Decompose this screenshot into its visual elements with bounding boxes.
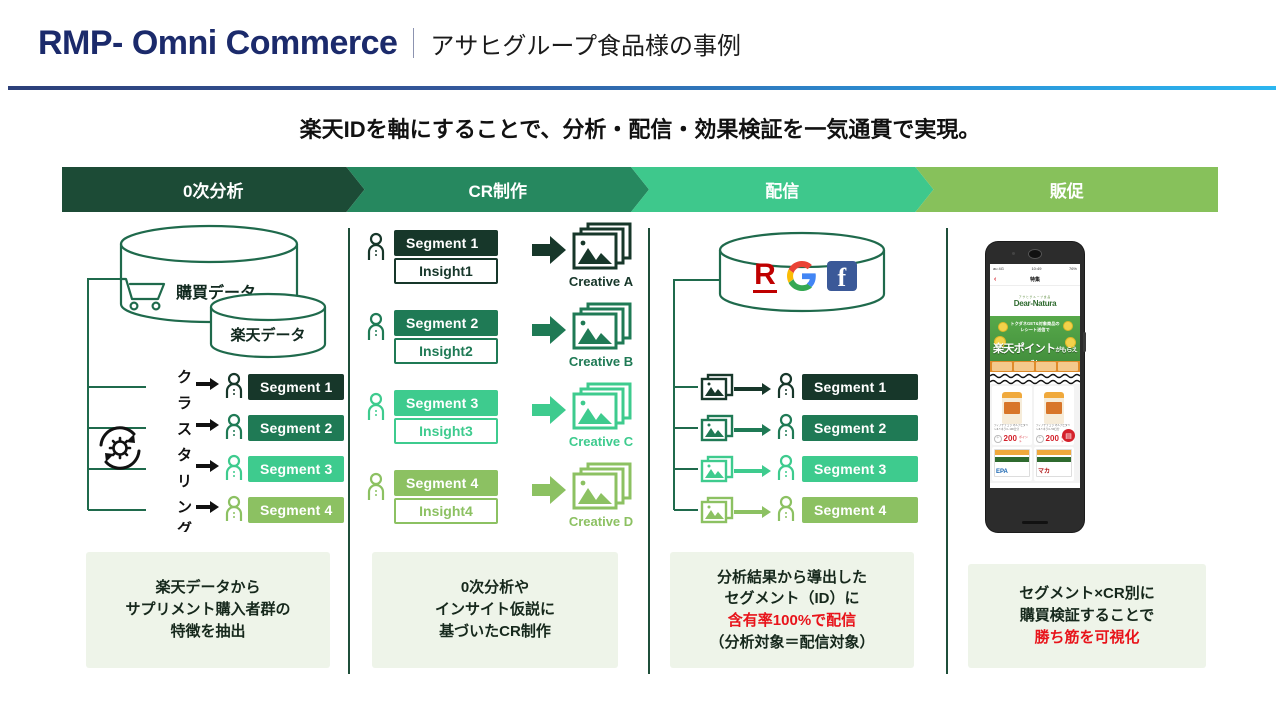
creative-image-icon-2	[574, 384, 630, 428]
creative-image-icon-3	[574, 464, 630, 508]
note-box-0: 楽天データから サプリメント購入者群の 特徴を抽出	[86, 552, 330, 668]
product-image	[994, 388, 1030, 424]
note-line: 楽天データから	[125, 577, 290, 599]
product-image: マカ	[1036, 449, 1072, 477]
svg-text:ン: ン	[177, 499, 192, 516]
note-line: セグメント（ID）に	[709, 588, 874, 610]
creative-image-icon-0	[574, 224, 630, 268]
step-chevron-2[interactable]: 配信	[631, 167, 934, 212]
note-line-highlight: 含有率100%で配信	[709, 610, 874, 632]
segment-chip-c1-3[interactable]: Segment 4	[248, 497, 344, 523]
step-label-0: 0次分析	[183, 177, 243, 202]
person-icon-group	[227, 374, 241, 521]
column-0-analysis: 購買データ 楽天データ	[76, 222, 344, 537]
strip-item	[1014, 362, 1034, 371]
svg-text:ス: ス	[177, 421, 192, 438]
phone-screen: au 4G 10:49 76% ‹ 特集 アサヒグループ食品 Dear-Natu…	[990, 264, 1080, 488]
segment-chip-c2-0[interactable]: Segment 1	[394, 230, 498, 256]
phone-mockup: au 4G 10:49 76% ‹ 特集 アサヒグループ食品 Dear-Natu…	[986, 242, 1084, 532]
status-battery-text: 76%	[1069, 266, 1077, 271]
note-box-2: 分析結果から導出した セグメント（ID）に 含有率100%で配信 （分析対象＝配…	[670, 552, 914, 668]
phone-nav-title: 特集	[1030, 276, 1040, 283]
chevron-left-icon[interactable]: ‹	[994, 276, 996, 283]
step-chevron-3[interactable]: 販促	[916, 167, 1219, 212]
product-card[interactable]: マカ	[1034, 447, 1074, 481]
segment-chip-c1-2[interactable]: Segment 3	[248, 456, 344, 482]
step-label-3: 販促	[1050, 177, 1084, 202]
phone-nav-bar: ‹ 特集	[990, 273, 1080, 286]
step-label-2: 配信	[765, 177, 799, 202]
svg-text:グ: グ	[177, 520, 192, 532]
page-header: RMP- Omni Commerce アサヒグループ食品様の事例	[0, 0, 1280, 88]
insight-chip-c2-1[interactable]: Insight 2	[394, 338, 498, 364]
person-icon-group	[779, 374, 793, 521]
column-1-creative: Segment 1 Insight 1 Creative A Segment 2…	[362, 222, 644, 537]
note-box-1: 0次分析や インサイト仮説に 基づいたCR制作	[372, 552, 618, 668]
strip-item	[1036, 362, 1056, 371]
svg-text:リ: リ	[177, 473, 192, 490]
zigzag-divider	[990, 372, 1080, 384]
google-logo	[787, 261, 817, 291]
status-time-text: 10:49	[1031, 266, 1041, 271]
brand-header: アサヒグループ食品 Dear-Natura	[990, 286, 1080, 316]
brand-name-text: Dear-Natura	[1014, 299, 1057, 308]
segment-chip-c3-3[interactable]: Segment 4	[802, 497, 918, 523]
svg-text:ク: ク	[177, 369, 192, 386]
add-icon[interactable]: +	[1036, 435, 1044, 443]
rakuten-logo: R	[753, 260, 777, 293]
creative-image-icon-small-3	[702, 498, 732, 522]
media-logo-row: R f	[720, 256, 890, 296]
insight-chip-c2-2[interactable]: Insight 3	[394, 418, 498, 444]
creative-image-icon-small-0	[702, 375, 732, 399]
phone-power-button[interactable]	[1083, 332, 1086, 352]
title-divider	[413, 28, 414, 58]
segment-chip-c2-1[interactable]: Segment 2	[394, 310, 498, 336]
gear-rotation-icon	[101, 428, 139, 468]
product-card[interactable]: ディアナチュラ マルチビタミン&ミネラル 100日分 + 200 ポイント	[992, 386, 1032, 445]
column-divider-2	[648, 228, 650, 674]
creative-label-1: Creative B	[558, 354, 644, 369]
creative-label-0: Creative A	[558, 274, 644, 289]
strip-item	[992, 362, 1012, 371]
segment-chip-c3-0[interactable]: Segment 1	[802, 374, 918, 400]
points-unit: ポイント	[1019, 435, 1030, 443]
product-name: マカ	[1038, 466, 1050, 475]
step-chevron-0[interactable]: 0次分析	[62, 167, 365, 212]
note-line: （分析対象＝配信対象）	[709, 632, 874, 654]
person-icon-group	[369, 234, 383, 500]
note-line: 購買検証することで	[1019, 605, 1154, 627]
svg-text:ラ: ラ	[177, 395, 192, 412]
creative-label-2: Creative C	[558, 434, 644, 449]
product-desc: ディアナチュラ マルチビタミン&ミネラル 100日分	[994, 424, 1030, 433]
cart-badge-icon[interactable]: ▤	[1062, 429, 1075, 442]
column-2-delivery: R f Segment 1 Segment 2 Segment 3 Segmen…	[662, 222, 944, 537]
segment-chip-c2-2[interactable]: Segment 3	[394, 390, 498, 416]
phone-home-button[interactable]	[1022, 521, 1048, 524]
creative-label-3: Creative D	[558, 514, 644, 529]
creative-image-icon-small-1	[702, 416, 732, 440]
insight-chip-c2-0[interactable]: Insight 1	[394, 258, 498, 284]
note-line: サプリメント購入者群の	[125, 599, 290, 621]
header-accent-rule	[8, 86, 1276, 90]
segment-chip-c2-3[interactable]: Segment 4	[394, 470, 498, 496]
product-image	[1036, 388, 1072, 424]
column-divider-1	[348, 228, 350, 674]
segment-chip-c3-2[interactable]: Segment 3	[802, 456, 918, 482]
column-divider-3	[946, 228, 948, 674]
note-line: セグメント×CR別に	[1019, 583, 1154, 605]
note-line: インサイト仮説に	[435, 599, 555, 621]
note-line-highlight: 勝ち筋を可視化	[1019, 627, 1154, 649]
insight-chip-c2-3[interactable]: Insight 4	[394, 498, 498, 524]
strip-item	[1058, 362, 1078, 371]
points-value: 200	[1046, 434, 1059, 443]
banner-product-strip	[990, 361, 1080, 372]
promo-banner[interactable]: トクダネGET&対象商品の レシート送信で 楽天ポイントがもらえる！	[990, 316, 1080, 372]
note-box-3: セグメント×CR別に 購買検証することで 勝ち筋を可視化	[968, 564, 1206, 668]
phone-status-bar: au 4G 10:49 76%	[990, 264, 1080, 273]
product-image: EPA	[994, 449, 1030, 477]
page-subtitle: アサヒグループ食品様の事例	[430, 26, 741, 61]
note-line: 特徴を抽出	[125, 621, 290, 643]
segment-chip-c3-1[interactable]: Segment 2	[802, 415, 918, 441]
content-panels: 購買データ 楽天データ	[62, 222, 1218, 674]
banner-big-text: 楽天ポイント	[993, 343, 1055, 355]
step-label-1: CR制作	[468, 177, 527, 202]
status-signal-text: au 4G	[993, 266, 1004, 271]
note-line: 0次分析や	[435, 577, 555, 599]
facebook-logo: f	[827, 261, 857, 291]
cylinder-small-label-text: 楽天データ	[230, 326, 305, 344]
note-line: 分析結果から導出した	[709, 567, 874, 589]
page-title: RMP- Omni Commerce	[38, 24, 397, 63]
process-step-bar: 0次分析 CR制作 配信 販促	[62, 167, 1218, 212]
creative-image-icon-1	[574, 304, 630, 348]
product-card[interactable]: EPA	[992, 447, 1032, 481]
step-chevron-1[interactable]: CR制作	[347, 167, 650, 212]
banner-line-1: トクダネGET&対象商品の	[1010, 321, 1059, 326]
product-points: + 200 ポイント	[994, 434, 1030, 443]
segment-chip-c1-1[interactable]: Segment 2	[248, 415, 344, 441]
phone-camera-icon	[1028, 249, 1042, 259]
creative-image-icon-small-2	[702, 457, 732, 481]
product-name: EPA	[996, 469, 1008, 475]
note-line: 基づいたCR制作	[435, 621, 555, 643]
lead-statement: 楽天IDを軸にすることで、分析・配信・効果検証を一気通貫で実現。	[0, 112, 1280, 144]
segment-chip-c1-0[interactable]: Segment 1	[248, 374, 344, 400]
points-value: 200	[1004, 434, 1017, 443]
banner-subline: トクダネGET&対象商品の レシート送信で	[990, 321, 1080, 334]
banner-line-2: レシート送信で	[1020, 327, 1049, 332]
svg-text:タ: タ	[177, 447, 192, 464]
header-title-group: RMP- Omni Commerce アサヒグループ食品様の事例	[38, 24, 741, 63]
add-icon[interactable]: +	[994, 435, 1002, 443]
phone-sensor-icon	[1012, 252, 1015, 255]
